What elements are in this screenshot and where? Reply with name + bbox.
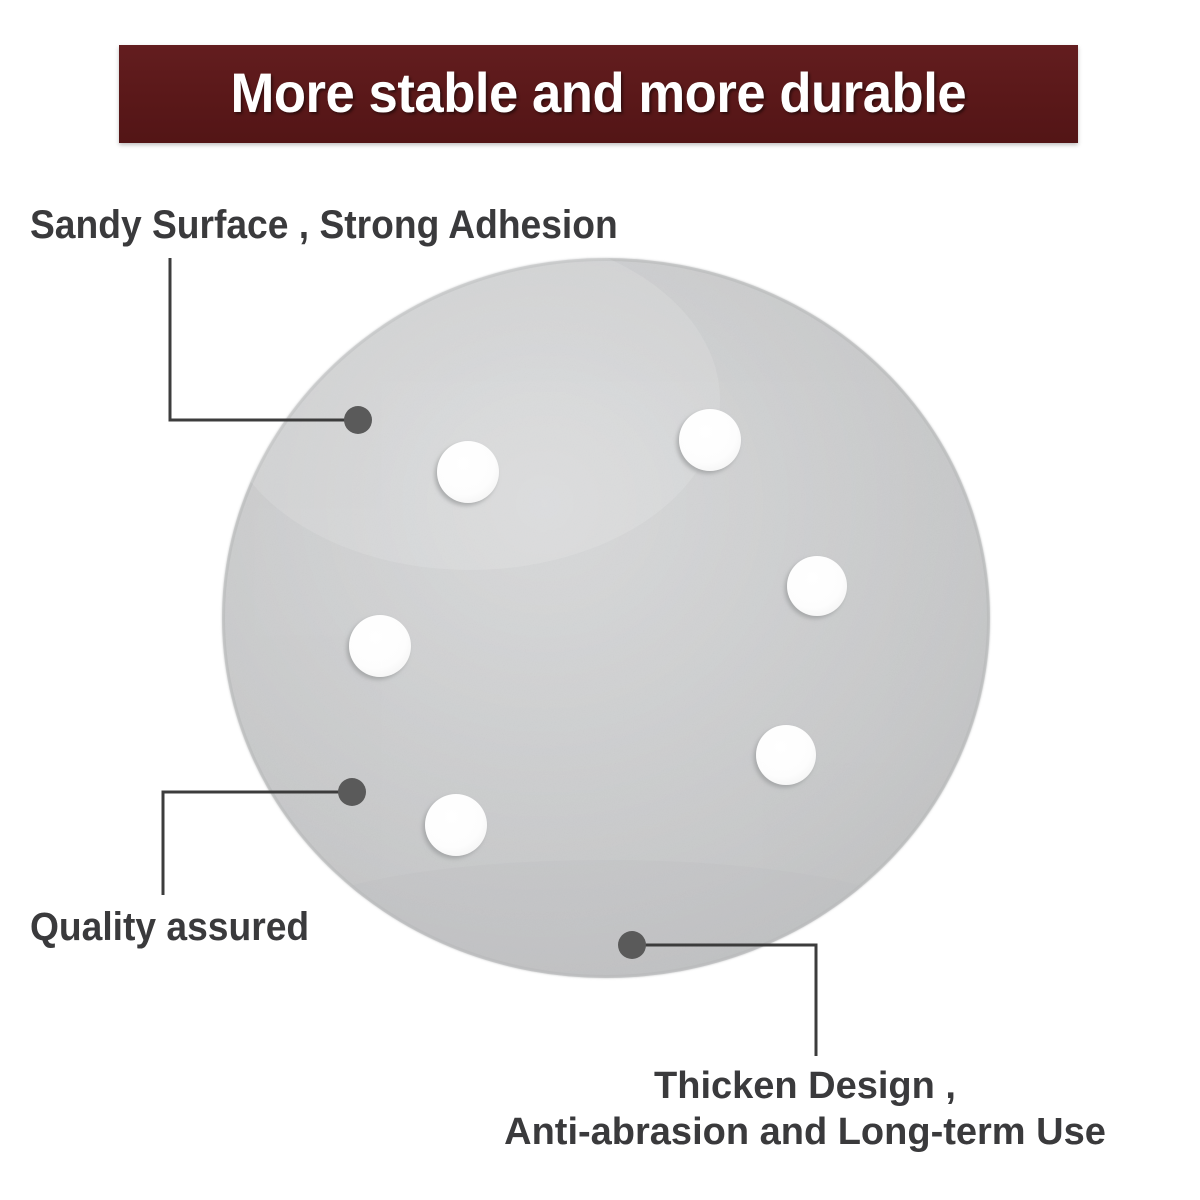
callout-leader-lines: [0, 0, 1200, 1200]
callout-text-quality-assured: Quality assured: [30, 905, 309, 950]
callout-dot-icon: [344, 406, 372, 434]
callout-dot-icon: [338, 778, 366, 806]
callout-label-quality-assured: Quality assured: [30, 905, 330, 950]
leader-thicken-design: [618, 931, 816, 1056]
callout-text-thicken-line1: Thicken Design ,: [455, 1063, 1155, 1109]
callout-label-thicken-design: Thicken Design , Anti-abrasion and Long-…: [455, 1063, 1155, 1155]
leader-quality-assured: [163, 778, 366, 895]
callout-dot-icon: [618, 931, 646, 959]
callout-text-thicken-line2: Anti-abrasion and Long-term Use: [455, 1109, 1155, 1155]
callout-label-sandy-surface: Sandy Surface , Strong Adhesion: [30, 203, 662, 248]
leader-sandy-surface: [170, 258, 372, 434]
infographic-page: More stable and more durable: [0, 0, 1200, 1200]
callout-text-sandy-surface: Sandy Surface , Strong Adhesion: [30, 203, 618, 248]
